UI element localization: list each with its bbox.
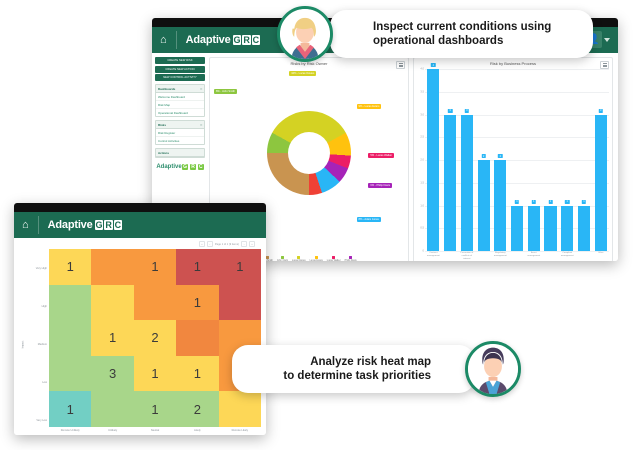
x-axis-tick (442, 251, 459, 261)
pager-first-button[interactable]: « (199, 241, 205, 247)
heatmap-appbar: ⌂ Adaptive G R C (14, 212, 266, 238)
brand-mark: G R C (232, 35, 260, 45)
female-avatar-icon (277, 6, 333, 62)
heatmap-row: 112 (49, 391, 261, 427)
heatmap-row: 12 (49, 320, 261, 356)
heatmap-main: Impact Very HighHighMediumLowVery Low 11… (19, 249, 261, 435)
heatmap-window: ⌂ Adaptive G R C « ‹ Page 1 of 1 (9 item… (14, 203, 266, 435)
bar[interactable]: 1 (544, 206, 556, 252)
callout-line-2: to determine task priorities (283, 369, 431, 383)
heatmap-cell[interactable]: 1 (176, 285, 218, 321)
x-axis-tick: Likely (176, 427, 218, 435)
pager-last-button[interactable]: » (249, 241, 255, 247)
bar-value-label: 1 (515, 200, 519, 204)
risk-by-business-process-card: Risk by Business Process 4.03.53.02.52.0… (413, 57, 613, 261)
bar[interactable]: 1 (578, 206, 590, 252)
minimize-icon[interactable]: ━ (200, 87, 202, 91)
charts-region: Risks by Risk Owner 8% - John Smith34% -… (208, 53, 618, 261)
hamburger-icon[interactable] (600, 61, 609, 69)
heatmap-body: « ‹ Page 1 of 1 (9 items) › » Impact Ver… (14, 238, 266, 435)
sidebar-logo-c: C (198, 164, 204, 170)
bar-value-label: 4 (431, 63, 435, 67)
sidebar-item-operational-dashboard[interactable]: Operational Dashboard (156, 109, 204, 116)
sidebar-group-actions: Actions (155, 148, 205, 158)
legend-item[interactable]: Lucas Davies (292, 256, 306, 261)
sidebar-logo: Adaptive G R C (155, 164, 205, 170)
male-avatar-icon (465, 341, 521, 397)
y-axis-tick: 3.5 (420, 90, 424, 93)
y-axis-tick: 0.5 (420, 227, 424, 230)
x-axis-tick: Prevention of conflicts of interest (458, 251, 475, 261)
bar[interactable]: 1 (561, 206, 573, 252)
minimize-icon[interactable]: ━ (200, 123, 202, 127)
heatmap-cell[interactable] (134, 285, 176, 321)
brand-mark-g: G (95, 220, 104, 230)
x-axis-tick: Compliant management (559, 251, 576, 261)
x-axis-labels: Contract managementPrevention of conflic… (425, 251, 609, 261)
sidebar-item-risk-map[interactable]: Risk Map (156, 101, 204, 109)
sidebar-group-header[interactable]: Dashboards ━ (156, 85, 204, 93)
heatmap-cell[interactable]: 1 (134, 391, 176, 427)
callout-text: Analyze risk heat map to determine task … (283, 355, 431, 383)
create-new-action-button[interactable]: CREATE NEW ACTION (155, 66, 205, 73)
home-icon[interactable]: ⌂ (22, 220, 29, 231)
bar-column[interactable]: 1 (509, 69, 526, 251)
sidebar-logo-text: Adaptive (156, 164, 181, 170)
y-axis-tick: Very Low (27, 402, 49, 435)
bar-chart: 4.03.53.02.52.01.51.00.50 43322111113 Co… (416, 69, 609, 261)
legend-item[interactable]: Philip Davis (345, 256, 357, 261)
sidebar-logo-g: G (182, 164, 188, 170)
x-axis-tick: Other (592, 251, 609, 261)
create-new-risk-button[interactable]: CREATE NEW RISK (155, 57, 205, 64)
legend-swatch (332, 256, 335, 259)
pager: « ‹ Page 1 of 1 (9 items) › » (19, 241, 261, 249)
bar-column[interactable]: 3 (442, 69, 459, 251)
heatmap-cell[interactable]: 1 (134, 356, 176, 392)
x-axis-tick (542, 251, 559, 261)
bar[interactable]: 3 (444, 115, 456, 252)
legend-swatch (266, 256, 269, 259)
bar-value-label: 3 (598, 109, 602, 113)
x-axis-tick (475, 251, 492, 261)
bar[interactable]: 3 (595, 115, 607, 252)
chevron-down-icon (604, 38, 610, 42)
donut-slice-label: 9% - Lucas Evans (357, 104, 382, 109)
callout-analyze: Analyze risk heat map to determine task … (232, 345, 475, 393)
heatmap-row: 1 (49, 285, 261, 321)
heatmap-cell[interactable] (176, 320, 218, 356)
bar-column[interactable]: 1 (525, 69, 542, 251)
heatmap-cell[interactable]: 1 (176, 356, 218, 392)
x-axis-tick: Contract management (425, 251, 442, 261)
bar-value-label: 1 (565, 200, 569, 204)
legend-swatch (297, 256, 300, 259)
brand-mark: G R C (94, 220, 122, 230)
donut-slice-label: 5% - Lucas Walker (368, 153, 394, 158)
donut-ring (267, 111, 351, 195)
heatmap-row: 1111 (49, 249, 261, 285)
bar-value-label: 3 (465, 109, 469, 113)
y-axis-ticks: Very HighHighMediumLowVery Low (27, 249, 49, 435)
callout-line-2: operational dashboards (373, 34, 551, 48)
y-axis-tick: Low (27, 364, 49, 402)
legend-label: Philip Davis (345, 260, 357, 261)
sidebar-group-title: Risks (158, 123, 166, 127)
legend-label: John Clark (277, 260, 288, 261)
bar-column[interactable]: 1 (576, 69, 593, 251)
heatmap-cell[interactable]: 1 (134, 249, 176, 285)
y-axis-tick: 0 (423, 250, 424, 253)
bar[interactable]: 3 (461, 115, 473, 252)
x-axis-tick: Remote Likely (219, 427, 261, 435)
bar-column[interactable]: 3 (592, 69, 609, 251)
bar-column[interactable]: 2 (475, 69, 492, 251)
heatmap-cell[interactable]: 2 (176, 391, 218, 427)
legend-swatch (315, 256, 318, 259)
heatmap-cell[interactable]: 1 (91, 320, 133, 356)
donut-slice-label: 8% - Adam Jones (357, 217, 381, 222)
x-axis-tick: Unlikely (91, 427, 133, 435)
pager-prev-button[interactable]: ‹ (207, 241, 213, 247)
legend-label: Lucas Walker (327, 260, 341, 261)
legend-item[interactable]: John Clark (277, 256, 288, 261)
legend-label: Lucas Evans (310, 260, 323, 261)
appbar-divider (176, 31, 177, 49)
plot-area: 43322111113 (425, 69, 609, 251)
sidebar-group-title: Actions (158, 151, 169, 155)
heatmap-cell[interactable] (49, 285, 91, 321)
y-axis-tick: 3.0 (420, 113, 424, 116)
y-axis-tick: 1.5 (420, 181, 424, 184)
new-control-activity-button[interactable]: NEW CONTROL ACTIVITY (155, 74, 205, 81)
legend-swatch (281, 256, 284, 259)
x-axis-tick: Neutral (134, 427, 176, 435)
y-axis-tick: Medium (27, 325, 49, 363)
heatmap-plot: 1111112311112 Remote UnlikelyUnlikelyNeu… (49, 249, 261, 435)
bar[interactable]: 2 (494, 160, 506, 251)
bar[interactable]: 2 (478, 160, 490, 251)
bar-column[interactable]: 1 (542, 69, 559, 251)
brand-mark-c: C (252, 35, 260, 45)
x-axis-tick: Remote Unlikely (49, 427, 91, 435)
heatmap-cell[interactable] (91, 249, 133, 285)
chart-title: Risk by Business Process (414, 58, 612, 67)
heatmap-cell[interactable] (49, 320, 91, 356)
bar-value-label: 2 (498, 154, 502, 158)
heatmap-cell[interactable]: 1 (176, 249, 218, 285)
callout-line-1: Inspect current conditions using (373, 20, 551, 34)
pager-next-button[interactable]: › (241, 241, 247, 247)
legend-swatch (349, 256, 352, 259)
brand-name: Adaptive (48, 219, 93, 231)
heatmap-row: 311 (49, 356, 261, 392)
legend-label: Lucas Davies (292, 260, 306, 261)
home-icon[interactable]: ⌂ (160, 35, 167, 46)
bar-column[interactable]: 2 (492, 69, 509, 251)
brand-mark-c: C (114, 220, 122, 230)
y-axis: 4.03.53.02.52.01.51.00.50 (416, 69, 425, 251)
heatmap-cell[interactable] (91, 285, 133, 321)
bar-value-label: 3 (448, 109, 452, 113)
heatmap-cell[interactable] (91, 391, 133, 427)
heatmap-cell[interactable]: 2 (134, 320, 176, 356)
appbar-divider (38, 216, 39, 234)
bar[interactable]: 1 (528, 206, 540, 252)
sidebar-group-header[interactable]: Risks ━ (156, 121, 204, 129)
sidebar-logo-mark: G R C (182, 164, 204, 170)
y-axis-tick: 1.0 (420, 204, 424, 207)
x-axis-ticks: Remote UnlikelyUnlikelyNeutralLikelyRemo… (49, 427, 261, 435)
brand-logo: Adaptive G R C (186, 34, 260, 46)
legend-item[interactable]: Lucas Evans (310, 256, 323, 261)
heatmap-cell[interactable]: 1 (49, 249, 91, 285)
sidebar-group-title: Dashboards (158, 87, 175, 91)
y-axis-tick: 2.5 (420, 136, 424, 139)
y-axis-tick: Very High (27, 249, 49, 287)
heatmap-cell[interactable]: 1 (49, 391, 91, 427)
donut-slice-label: 6% - Philip Davis (368, 183, 392, 188)
sidebar-group-header[interactable]: Actions (156, 149, 204, 157)
brand-mark-r: R (104, 220, 112, 230)
sidebar-logo-r: R (190, 164, 196, 170)
bar-value-label: 1 (548, 200, 552, 204)
callout-text: Inspect current conditions using operati… (373, 20, 551, 48)
x-axis-tick (576, 251, 593, 261)
donut-slice-label: 34% - Lucas Davies (289, 71, 316, 76)
callout-inspect: Inspect current conditions using operati… (330, 10, 593, 58)
window-titlebar (14, 203, 266, 212)
brand-logo: Adaptive G R C (48, 219, 122, 231)
heatmap-cell[interactable]: 1 (219, 249, 261, 285)
x-axis-tick (509, 251, 526, 261)
heatmap-cell[interactable] (219, 391, 261, 427)
y-axis-tick: High (27, 287, 49, 325)
bar-value-label: 1 (532, 200, 536, 204)
sidebar-item-welcome-dashboard[interactable]: Welcome Dashboard (156, 93, 204, 101)
legend-item[interactable]: Lucas Walker (327, 256, 341, 261)
x-axis-tick: Asset management (525, 251, 542, 261)
x-axis-tick: Regulatory management (492, 251, 509, 261)
pager-status: Page 1 of 1 (9 items) (215, 243, 239, 246)
heatmap-grid: 1111112311112 (49, 249, 261, 427)
y-axis-title: Impact (19, 249, 27, 435)
brand-mark-g: G (233, 35, 242, 45)
bar[interactable]: 1 (511, 206, 523, 252)
bar-column[interactable]: 4 (425, 69, 442, 251)
heatmap-cell[interactable] (219, 285, 261, 321)
bar-column[interactable]: 1 (559, 69, 576, 251)
brand-mark-r: R (242, 35, 250, 45)
sidebar-item-risk-register[interactable]: Risk Register (156, 129, 204, 137)
y-axis-tick: 2.0 (420, 159, 424, 162)
donut-slice-label: 8% - John Smith (214, 89, 237, 94)
heatmap-cell[interactable]: 3 (91, 356, 133, 392)
bar-value-label: 2 (481, 154, 485, 158)
bar[interactable]: 4 (427, 69, 439, 251)
heatmap-cell[interactable] (49, 356, 91, 392)
y-axis-tick: 4.0 (420, 68, 424, 71)
bar-column[interactable]: 3 (458, 69, 475, 251)
bars: 43322111113 (425, 69, 609, 251)
sidebar-group-dashboards: Dashboards ━ Welcome Dashboard Risk Map … (155, 84, 205, 117)
bar-value-label: 1 (582, 200, 586, 204)
sidebar-item-control-activities[interactable]: Control Activities (156, 137, 204, 144)
sidebar-group-risks: Risks ━ Risk Register Control Activities (155, 120, 205, 145)
callout-line-1: Analyze risk heat map (283, 355, 431, 369)
brand-name: Adaptive (186, 34, 231, 46)
